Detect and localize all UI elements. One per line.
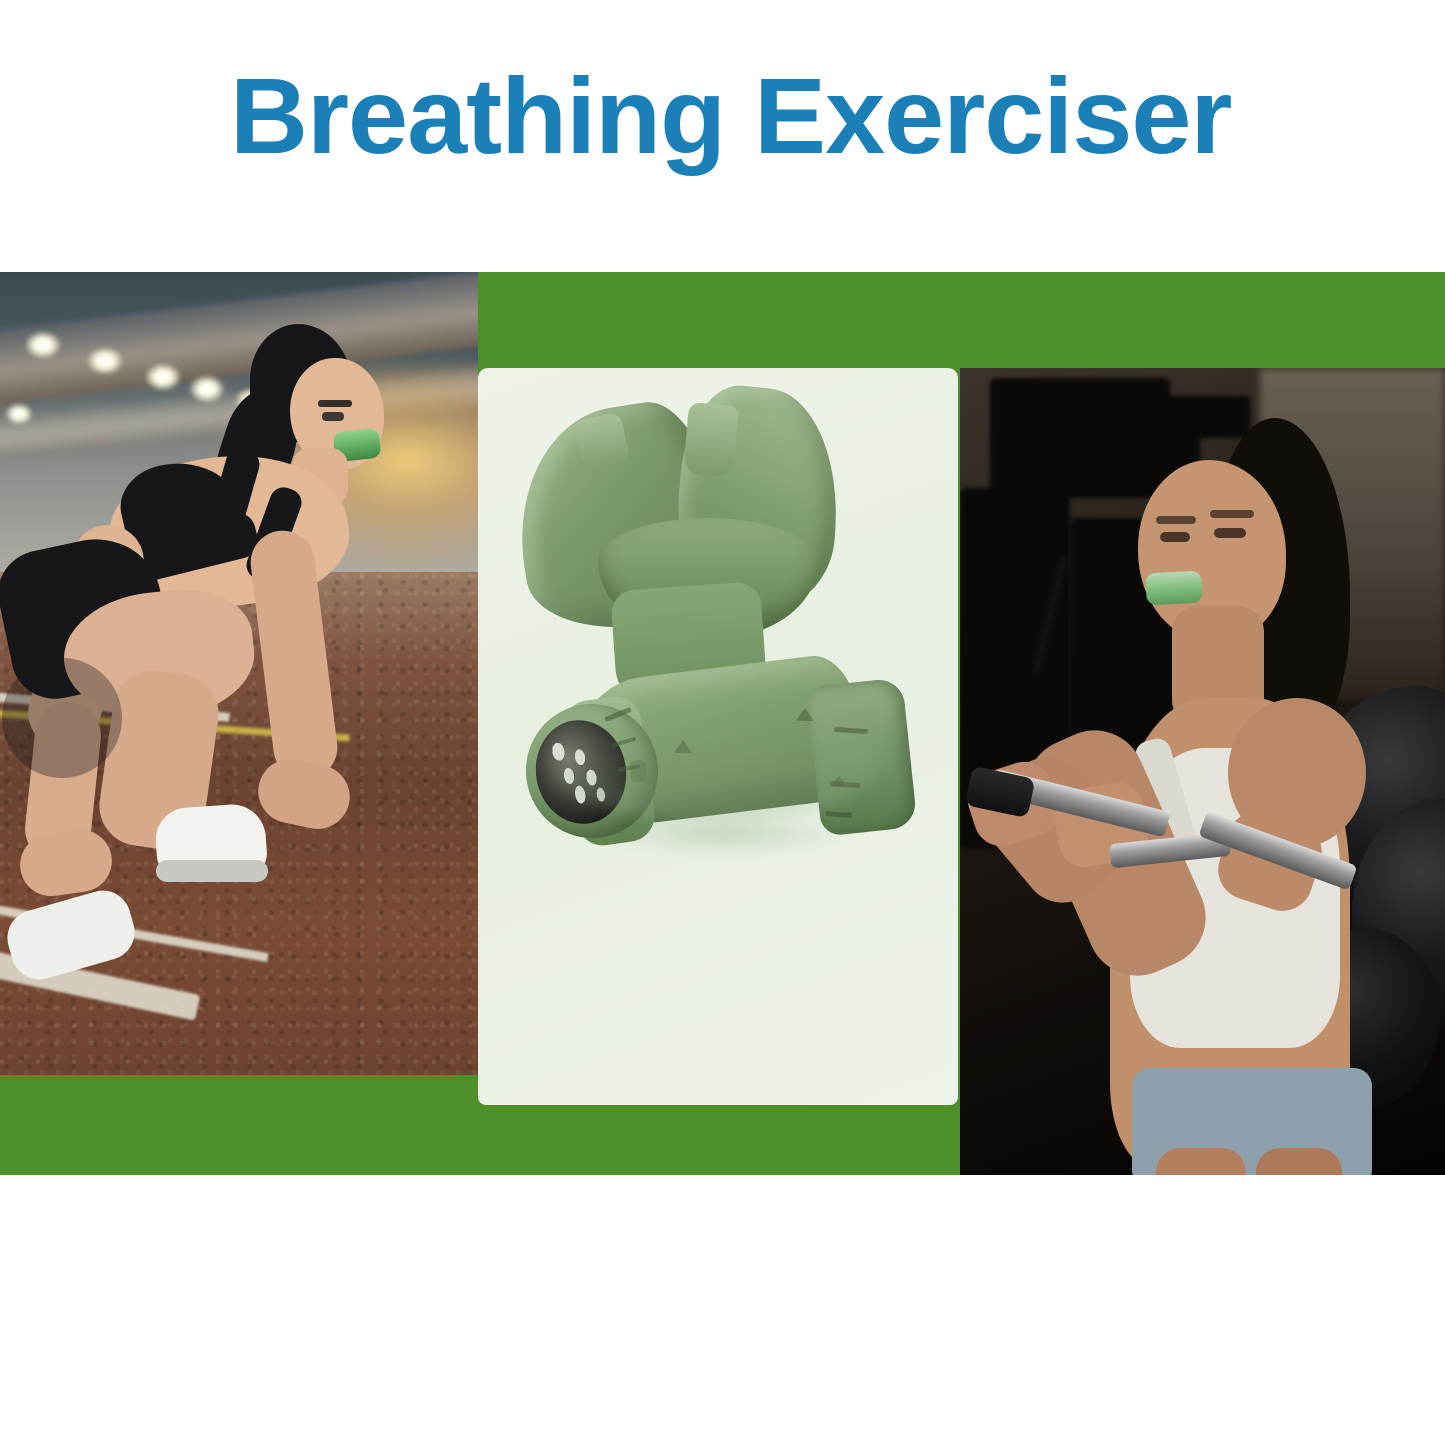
runner-shoe-sole xyxy=(156,860,268,882)
floodlight-icon xyxy=(6,404,32,424)
product-reflection xyxy=(548,692,878,820)
sprinter-photo xyxy=(0,272,478,1075)
floodlight-icon xyxy=(88,348,122,374)
gym-photo xyxy=(960,368,1445,1175)
gymgoer-brow xyxy=(1156,516,1196,524)
runner-knee-shadow xyxy=(2,658,122,778)
gymgoer-eye xyxy=(1214,528,1246,538)
product-banner-page: Breathing Exerciser xyxy=(0,0,1445,1445)
mouthpiece-tab-right xyxy=(683,402,739,478)
green-frame xyxy=(0,272,1445,1175)
title-bar: Breathing Exerciser xyxy=(0,0,1445,272)
product-photo xyxy=(478,368,958,1105)
floodlight-icon xyxy=(26,332,60,358)
runner-brow xyxy=(318,400,352,407)
gymgoer-leg xyxy=(1156,1148,1246,1175)
page-title: Breathing Exerciser xyxy=(230,62,1231,170)
floodlight-icon xyxy=(146,364,180,390)
runner-eye xyxy=(322,412,344,421)
gymgoer-brow xyxy=(1210,510,1254,518)
gymgoer-eye xyxy=(1160,532,1190,542)
breathing-exerciser-in-mouth xyxy=(1145,571,1203,606)
gymgoer-leg xyxy=(1256,1148,1342,1175)
